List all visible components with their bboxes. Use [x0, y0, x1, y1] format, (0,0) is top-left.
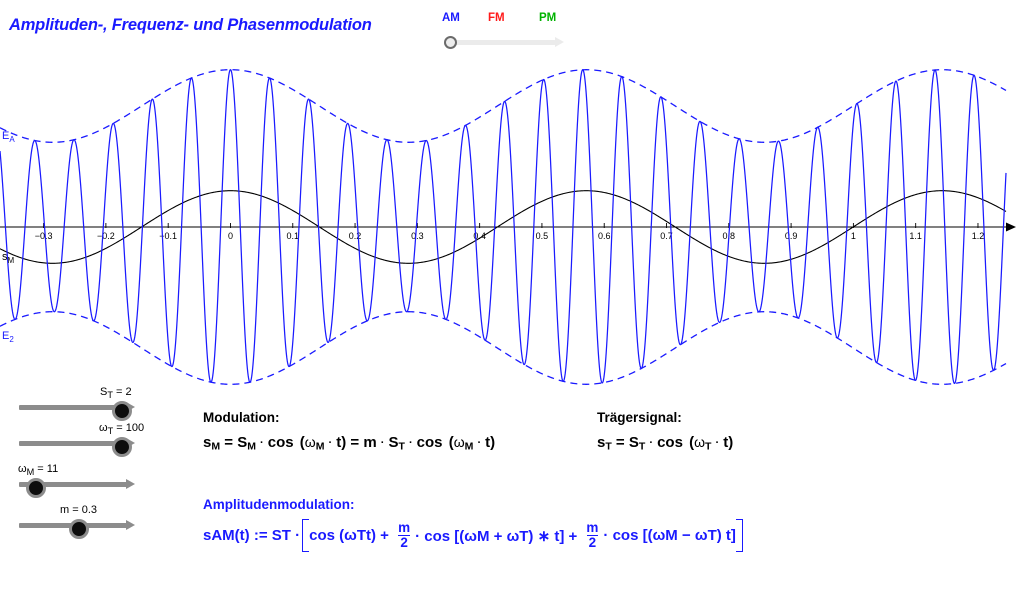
- fraction-m-over-2: m 2: [396, 521, 412, 550]
- slider-st-value: 2: [125, 386, 131, 398]
- graph-canvas[interactable]: −0.3−0.2−0.100.10.20.30.40.50.60.70.80.9…: [0, 55, 1017, 400]
- signal-graph[interactable]: −0.3−0.2−0.100.10.20.30.40.50.60.70.80.9…: [0, 55, 1017, 400]
- slider-omega-t-label: ωT = 100: [99, 422, 144, 436]
- mode-label-pm[interactable]: PM: [539, 12, 556, 24]
- x-axis-tick-label: 0.3: [411, 231, 424, 241]
- x-axis-tick-label: −0.3: [35, 231, 53, 241]
- mode-slider-labels: AM FM PM: [440, 12, 570, 28]
- x-axis-tick-label: 0.9: [785, 231, 798, 241]
- svg-text:EA: EA: [2, 130, 15, 144]
- slider-m-label: m = 0.3: [60, 504, 97, 516]
- slider-omega-m-thumb[interactable]: [26, 478, 46, 498]
- slider-omega-t-track[interactable]: [19, 441, 127, 446]
- x-axis-tick-label: 1: [851, 231, 856, 241]
- slider-omega-t-value: 100: [126, 422, 144, 434]
- curve-label-envelope-upper: EA: [2, 130, 15, 144]
- formula-block-modulation: Modulation: sM = SM · cos (ωM · t) = m ·…: [203, 410, 495, 452]
- curve-label-sub: 2: [9, 335, 14, 344]
- x-axis-tick-label: 0.6: [598, 231, 611, 241]
- am-formula-bracket: cos (ωTt) + m 2 · cos [(ωM + ωT) ∗ t] + …: [302, 521, 743, 550]
- formula-body-am: sAM(t) := ST · cos (ωTt) + m 2 · cos [(ω…: [203, 521, 743, 550]
- x-axis-tick-label: −0.2: [97, 231, 115, 241]
- slider-m-thumb[interactable]: [69, 519, 89, 539]
- slider-m[interactable]: m = 0.3: [0, 504, 185, 538]
- slider-st-track[interactable]: [19, 405, 127, 410]
- curve-label-base: E: [2, 330, 9, 342]
- x-axis-tick-label: 0: [228, 231, 233, 241]
- slider-omega-t-thumb[interactable]: [112, 437, 132, 457]
- formula-block-carrier: Trägersignal: sT = ST · cos (ωT · t): [597, 410, 733, 452]
- page-title: Amplituden-, Frequenz- und Phasenmodulat…: [9, 16, 372, 35]
- slider-omega-t[interactable]: ωT = 100: [0, 422, 185, 456]
- svg-text:E2: E2: [2, 330, 14, 344]
- slider-st-label: ST = 2: [100, 386, 132, 400]
- envelope-lower-curve: [0, 312, 1006, 385]
- slider-omega-m-value: 11: [47, 463, 58, 475]
- fraction-m-over-2: m 2: [584, 521, 600, 550]
- formula-body-modulation: sM = SM · cos (ωM · t) = m · ST · cos (ω…: [203, 434, 495, 452]
- formula-block-am: Amplitudenmodulation: sAM(t) := ST · cos…: [203, 497, 743, 550]
- parameter-sliders[interactable]: ST = 2 ωT = 100 ωM = 11 m = 0.3: [0, 386, 185, 546]
- x-axis-tick-label: 0.5: [536, 231, 549, 241]
- slider-st-thumb[interactable]: [112, 401, 132, 421]
- formula-heading-modulation: Modulation:: [203, 410, 495, 425]
- mode-slider-track[interactable]: [444, 40, 556, 45]
- slider-m-value: 0.3: [82, 504, 97, 516]
- formula-heading-carrier: Trägersignal:: [597, 410, 733, 425]
- formula-body-carrier: sT = ST · cos (ωT · t): [597, 434, 733, 452]
- slider-omega-m[interactable]: ωM = 11: [0, 463, 185, 497]
- slider-omega-m-label: ωM = 11: [18, 463, 58, 477]
- x-axis-tick-label: 1.2: [972, 231, 985, 241]
- modulation-mode-slider[interactable]: AM FM PM: [440, 12, 570, 50]
- mode-slider-thumb[interactable]: [444, 36, 457, 49]
- x-axis-tick-labels: −0.3−0.2−0.100.10.20.30.40.50.60.70.80.9…: [35, 231, 985, 241]
- curve-label-sub: M: [8, 256, 15, 265]
- curve-label-base: E: [2, 130, 9, 142]
- x-axis-tick-label: 1.1: [909, 231, 922, 241]
- curve-label-sub: A: [9, 135, 15, 144]
- slider-st[interactable]: ST = 2: [0, 386, 185, 420]
- x-axis-tick-label: 0.2: [349, 231, 362, 241]
- mode-label-am[interactable]: AM: [442, 12, 460, 24]
- formula-heading-am: Amplitudenmodulation:: [203, 497, 743, 512]
- x-axis-tick-label: 0.1: [287, 231, 300, 241]
- mode-label-fm[interactable]: FM: [488, 12, 505, 24]
- curve-label-envelope-lower: E2: [2, 330, 14, 344]
- x-axis: [0, 223, 1016, 232]
